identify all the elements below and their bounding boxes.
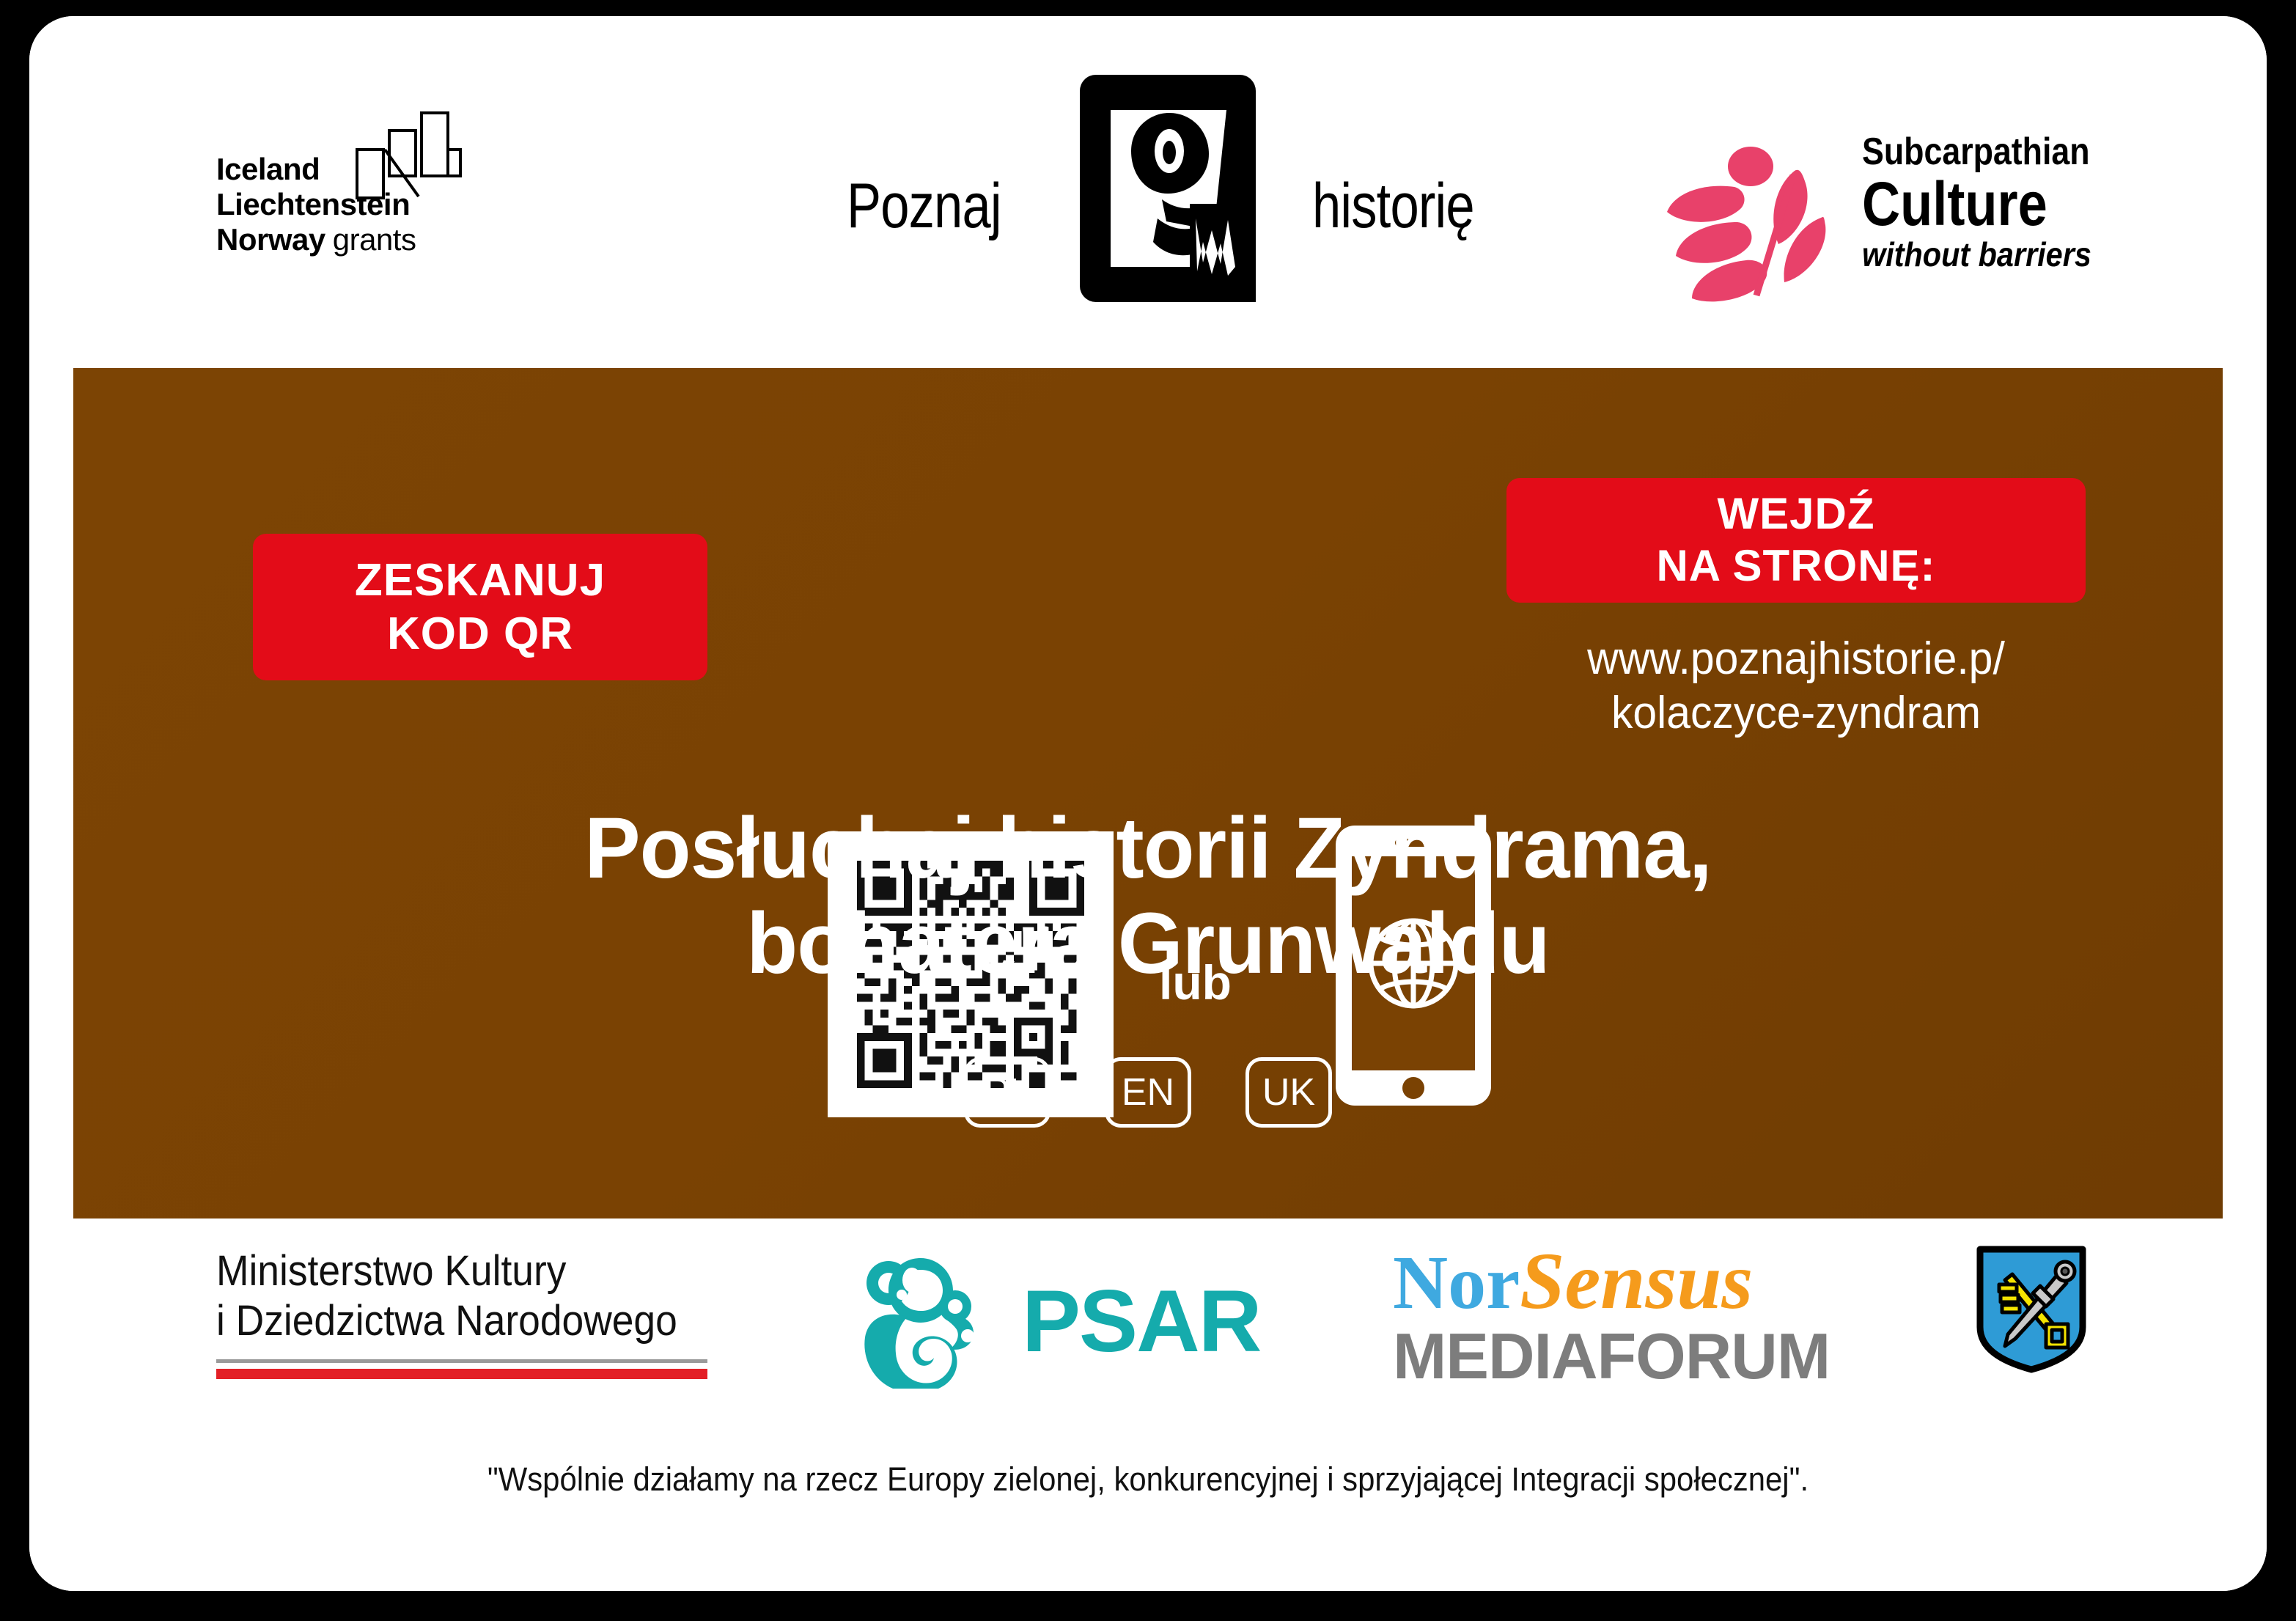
brand-word-poznaj: Poznaj (847, 170, 1001, 243)
url-line2: kolaczyce-zyndram (1521, 686, 2072, 740)
ministry-line2: i Dziedzictwa Narodowego (216, 1296, 702, 1346)
lang-button-en[interactable]: EN (1105, 1057, 1191, 1128)
ministry-gray-bar (216, 1359, 707, 1363)
web-button-line1: WEJDŹ (1717, 489, 1874, 538)
norsensus-mediaforum-logo: NorSensus MEDIAFORUM (1393, 1240, 1830, 1389)
culture-word: Culture (1862, 172, 2090, 235)
grants-bars-icon (356, 111, 462, 203)
psar-logo: PSAR (850, 1249, 1260, 1392)
headline: Posłuchaj historii Zyndrama, bohatera Gr… (106, 801, 2190, 991)
headline-line2: bohatera Grunwaldu (106, 896, 2190, 991)
norsensus-sensus: Sensus (1520, 1236, 1753, 1326)
lang-button-pl[interactable]: PL (964, 1057, 1051, 1128)
ministry-line1: Ministerstwo Kultury (216, 1246, 702, 1296)
subcarpathian-word: Subcarpathian (1862, 131, 2090, 172)
scan-qr-button[interactable]: ZESKANUJ KOD QR (253, 534, 707, 680)
header-bar: Iceland Liechtenstein Norwaygrants Pozna… (29, 16, 2267, 368)
without-barriers-tagline: without barriers (1862, 235, 2100, 273)
eea-slogan-quote: "Wspólnie działamy na rzecz Europy zielo… (108, 1460, 2188, 1499)
norsensus-nor: Nor (1393, 1240, 1520, 1325)
scan-button-line1: ZESKANUJ (355, 555, 606, 606)
ministry-of-culture-logo: Ministerstwo Kultury i Dziedzictwa Narod… (216, 1246, 744, 1379)
grants-word-grants: grants (333, 222, 416, 257)
lang-button-uk[interactable]: UK (1245, 1057, 1332, 1128)
url-line1: www.poznajhistorie.p/ (1521, 632, 2072, 686)
grants-line-norway: Norwaygrants (216, 222, 458, 257)
eea-grants-logo: Iceland Liechtenstein Norwaygrants (216, 152, 458, 257)
visit-website-button[interactable]: WEJDŹ NA STRONĘ: (1506, 478, 2086, 603)
koala-icon (850, 1249, 997, 1392)
poznaj-historie-mask-icon (1080, 75, 1256, 306)
mediaforum-wordmark: MEDIAFORUM (1393, 1324, 1830, 1389)
brown-content-panel: ZESKANUJ KOD QR (73, 368, 2223, 1218)
language-selector: PL EN UK (73, 1057, 2223, 1128)
poznaj-historie-brand: Poznaj historię (847, 75, 1455, 302)
poster-card: Iceland Liechtenstein Norwaygrants Pozna… (29, 16, 2267, 1591)
subcarpathian-culture-logo: Subcarpathian Culture without barriers (1664, 137, 2148, 320)
ministry-red-bar (216, 1369, 707, 1379)
kolaczyce-coat-of-arms-icon (1976, 1245, 2087, 1377)
headline-line1: Posłuchaj historii Zyndrama, (106, 801, 2190, 896)
footer-bar: Ministerstwo Kultury i Dziedzictwa Narod… (29, 1218, 2267, 1591)
web-button-line2: NA STRONĘ: (1656, 541, 1935, 590)
website-url[interactable]: www.poznajhistorie.p/ kolaczyce-zyndram (1521, 632, 2072, 740)
psar-wordmark: PSAR (1022, 1277, 1260, 1365)
brand-word-historie: historię (1312, 170, 1474, 243)
scan-button-line2: KOD QR (387, 609, 573, 659)
leaf-branch-icon (1664, 144, 1833, 306)
